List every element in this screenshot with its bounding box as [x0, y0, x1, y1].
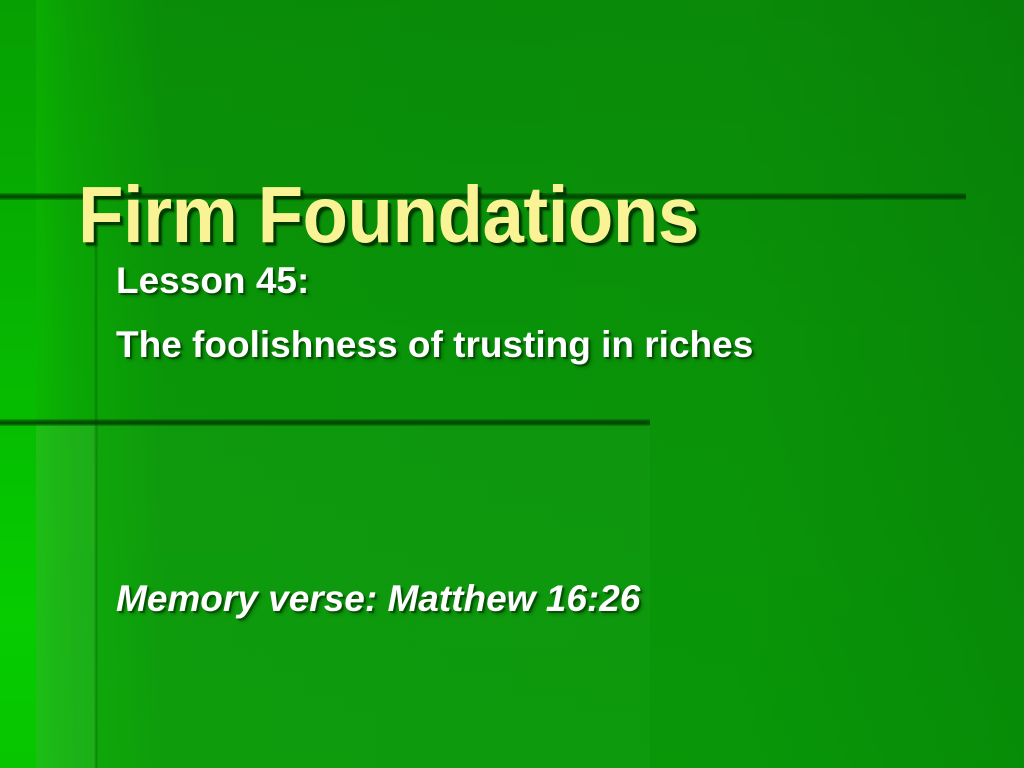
lesson-number-label: Lesson 45:	[116, 249, 976, 313]
memory-verse-label: Memory verse: Matthew 16:26	[116, 578, 640, 620]
lesson-topic-label: The foolishness of trusting in riches	[116, 313, 976, 377]
vertical-seam-divider	[94, 198, 98, 768]
lower-left-translucent-band	[36, 424, 96, 768]
lesson-text-block: Lesson 45: The foolishness of trusting i…	[116, 249, 976, 377]
body-divider-rule	[0, 419, 650, 426]
presentation-slide: Firm Foundations Lesson 45: The foolishn…	[0, 0, 1024, 768]
slide-title: Firm Foundations	[78, 175, 699, 255]
left-edge-accent-strip	[0, 0, 36, 768]
